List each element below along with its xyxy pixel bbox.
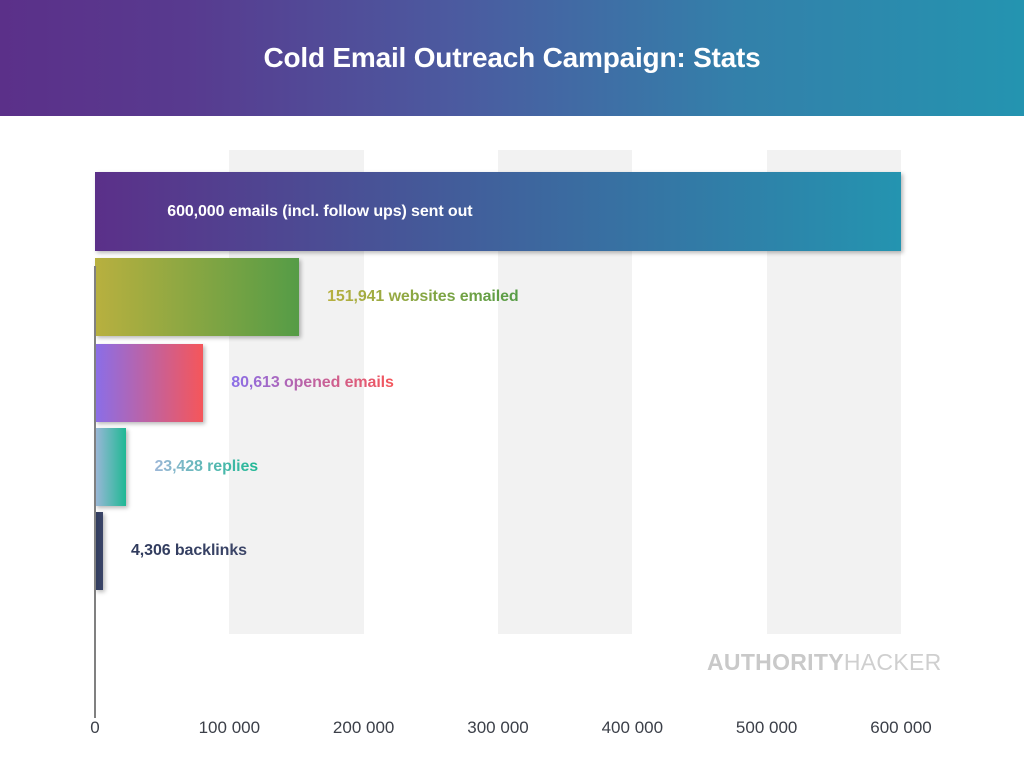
authority-hacker-watermark: AUTHORITYHACKER xyxy=(707,649,942,676)
x-tick-label: 0 xyxy=(90,718,99,738)
x-tick-label: 200 000 xyxy=(333,718,394,738)
y-axis-line xyxy=(94,266,96,718)
watermark-bold-text: AUTHORITY xyxy=(707,649,844,675)
x-tick-label: 400 000 xyxy=(602,718,663,738)
page-title: Cold Email Outreach Campaign: Stats xyxy=(263,42,760,74)
bar-row: 600,000 emails (incl. follow ups) sent o… xyxy=(95,172,901,251)
bar-row: 80,613 opened emails xyxy=(95,344,901,422)
x-tick-label: 500 000 xyxy=(736,718,797,738)
bar-label-1: 600,000 emails (incl. follow ups) sent o… xyxy=(167,203,472,221)
bar-5[interactable] xyxy=(95,512,103,590)
watermark-light-text: HACKER xyxy=(844,649,942,675)
bar-4[interactable] xyxy=(95,428,126,506)
bar-row: 4,306 backlinks xyxy=(95,512,901,590)
bar-chart: 600,000 emails (incl. follow ups) sent o… xyxy=(0,116,1024,656)
x-tick-label: 300 000 xyxy=(467,718,528,738)
bar-row: 151,941 websites emailed xyxy=(95,258,901,336)
bar-label-5: 4,306 backlinks xyxy=(131,542,247,560)
bar-label-3: 80,613 opened emails xyxy=(231,374,394,392)
x-axis-tick-labels: 0100 000200 000300 000400 000500 000600 … xyxy=(0,718,1024,758)
bar-3[interactable] xyxy=(95,344,203,422)
x-tick-label: 600 000 xyxy=(870,718,931,738)
bar-label-4: 23,428 replies xyxy=(154,458,258,476)
bar-2[interactable] xyxy=(95,258,299,336)
plot-area: 600,000 emails (incl. follow ups) sent o… xyxy=(95,150,901,634)
bar-label-2: 151,941 websites emailed xyxy=(327,288,519,306)
x-tick-label: 100 000 xyxy=(199,718,260,738)
bar-row: 23,428 replies xyxy=(95,428,901,506)
header-banner: Cold Email Outreach Campaign: Stats xyxy=(0,0,1024,116)
